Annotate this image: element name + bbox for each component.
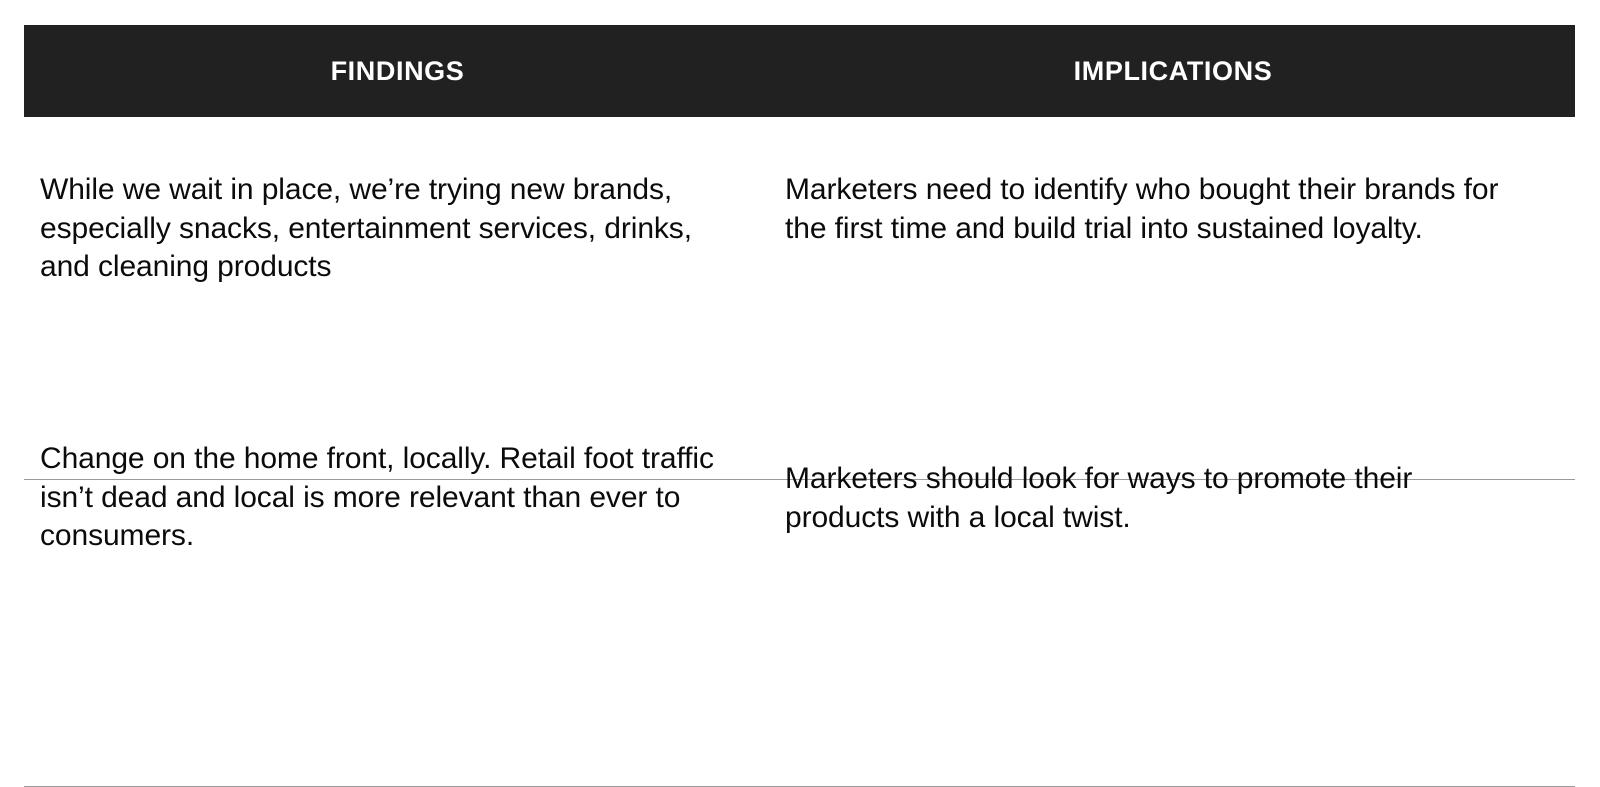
table-header-cell-implications: IMPLICATIONS <box>771 25 1575 117</box>
findings-implications-table: FINDINGS IMPLICATIONS While we wait in p… <box>0 0 1600 716</box>
table-cell-implications: Marketers should look for ways to promot… <box>785 460 1515 537</box>
implications-text: Marketers should look for ways to promot… <box>785 460 1515 537</box>
table-cell-findings: While we wait in place, we’re trying new… <box>40 171 740 287</box>
table-row: Change on the home front, locally. Retai… <box>0 362 1600 669</box>
implications-text: Marketers need to identify who bought th… <box>785 171 1515 248</box>
table-header-bar: FINDINGS IMPLICATIONS <box>24 25 1575 117</box>
findings-text: Change on the home front, locally. Retai… <box>40 440 740 556</box>
table-body: While we wait in place, we’re trying new… <box>0 117 1600 716</box>
findings-text: While we wait in place, we’re trying new… <box>40 171 740 287</box>
table-row: While we wait in place, we’re trying new… <box>0 117 1600 362</box>
column-header-findings: FINDINGS <box>331 58 465 85</box>
column-header-implications: IMPLICATIONS <box>1074 58 1273 85</box>
table-cell-implications: Marketers need to identify who bought th… <box>785 171 1515 248</box>
table-cell-findings: Change on the home front, locally. Retai… <box>40 440 740 556</box>
table-header-cell-findings: FINDINGS <box>24 25 771 117</box>
